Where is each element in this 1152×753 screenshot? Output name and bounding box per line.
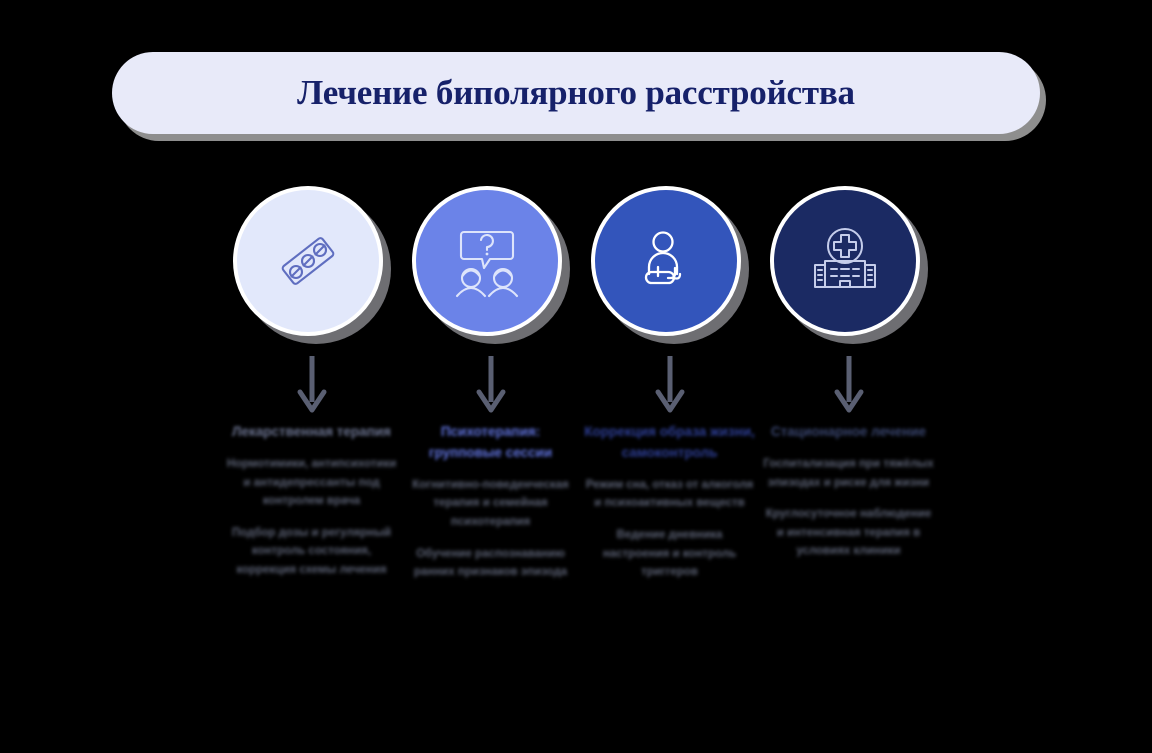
column-header: Психотерапия: групповые сессии	[405, 422, 577, 464]
column-text-lifestyle: Коррекция образа жизни, самоконтроль Реж…	[584, 422, 756, 595]
column-paragraph: Режим сна, отказ от алкоголя и психоакти…	[584, 476, 756, 513]
arrow-down-icon	[292, 354, 332, 414]
icon-circle-inpatient[interactable]	[770, 186, 920, 336]
column-text-psychotherapy: Психотерапия: групповые сессии Когнитивн…	[405, 422, 577, 595]
treatment-column-psychotherapy: Психотерапия: групповые сессии Когнитивн…	[401, 186, 580, 595]
column-paragraph: Госпитализация при тяжёлых эпизодах и ри…	[763, 455, 935, 492]
page-title: Лечение биполярного расстройства	[297, 73, 855, 113]
icon-circle-lifestyle[interactable]	[591, 186, 741, 336]
icon-circle-slot	[233, 186, 391, 344]
column-header: Лекарственная терапия	[226, 422, 398, 443]
column-paragraph: Ведение дневника настроения и контроль т…	[584, 526, 756, 582]
treatment-column-medication: Лекарственная терапия Нормотимики, антип…	[222, 186, 401, 593]
arrow-down-icon	[829, 354, 869, 414]
people-question-bubble-icon	[446, 220, 528, 302]
hospital-cross-icon	[805, 221, 885, 301]
treatment-column-inpatient: Стационарное лечение Госпитализация при …	[759, 186, 938, 574]
column-header: Коррекция образа жизни, самоконтроль	[584, 422, 756, 464]
treatment-column-lifestyle: Коррекция образа жизни, самоконтроль Реж…	[580, 186, 759, 595]
pill-blister-pack-icon	[269, 222, 347, 300]
column-paragraph: Круглосуточное наблюдение и интенсивная …	[763, 505, 935, 561]
column-paragraph: Подбор дозы и регулярный контроль состоя…	[226, 524, 398, 580]
column-text-medication: Лекарственная терапия Нормотимики, антип…	[226, 422, 398, 593]
column-text-inpatient: Стационарное лечение Госпитализация при …	[763, 422, 935, 574]
arrow-down-icon	[471, 354, 511, 414]
arrow-down-icon	[650, 354, 690, 414]
icon-circle-medication[interactable]	[233, 186, 383, 336]
column-paragraph: Нормотимики, антипсихотики и антидепресс…	[226, 455, 398, 511]
meditating-person-icon	[627, 222, 705, 300]
icon-circle-slot	[770, 186, 928, 344]
column-paragraph: Обучение распознаванию ранних признаков …	[405, 545, 577, 582]
icon-circle-psychotherapy[interactable]	[412, 186, 562, 336]
column-paragraph: Когнитивно-поведенческая терапия и семей…	[405, 476, 577, 532]
page-title-banner: Лечение биполярного расстройства	[112, 52, 1040, 134]
icon-circle-slot	[591, 186, 749, 344]
column-header: Стационарное лечение	[763, 422, 935, 443]
icon-circle-slot	[412, 186, 570, 344]
title-banner: Лечение биполярного расстройства	[112, 52, 1040, 134]
